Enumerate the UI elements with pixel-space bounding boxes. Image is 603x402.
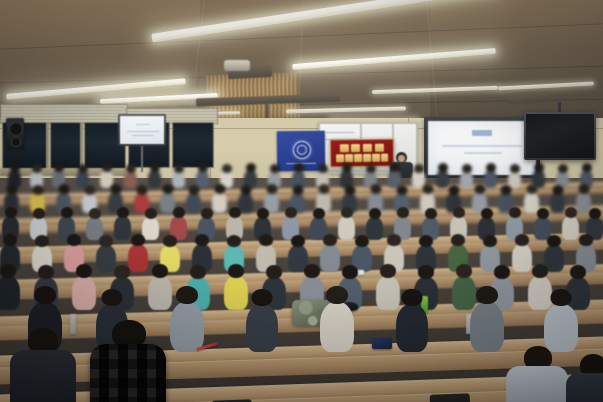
person-torso-plaid-shirt (90, 344, 166, 402)
whiteboard-heading (326, 132, 354, 133)
red-banner-line-1 (340, 144, 384, 153)
lecture-hall-photo (0, 0, 603, 402)
foreground-person (10, 328, 76, 402)
foreground-person (506, 346, 568, 402)
wall-speaker (6, 118, 24, 148)
slide-body-line (442, 145, 522, 147)
seating-area (0, 178, 603, 402)
red-banner-line-2 (336, 154, 388, 163)
slide-body-line (464, 152, 502, 154)
smartphone (372, 338, 392, 349)
foreground-person (566, 354, 603, 402)
slide-title (472, 130, 492, 136)
university-seal-logo (293, 141, 311, 159)
ceiling-light (286, 106, 406, 113)
foreground-person-plaid (88, 320, 168, 402)
red-banner (330, 139, 394, 168)
seat-back (430, 393, 471, 402)
